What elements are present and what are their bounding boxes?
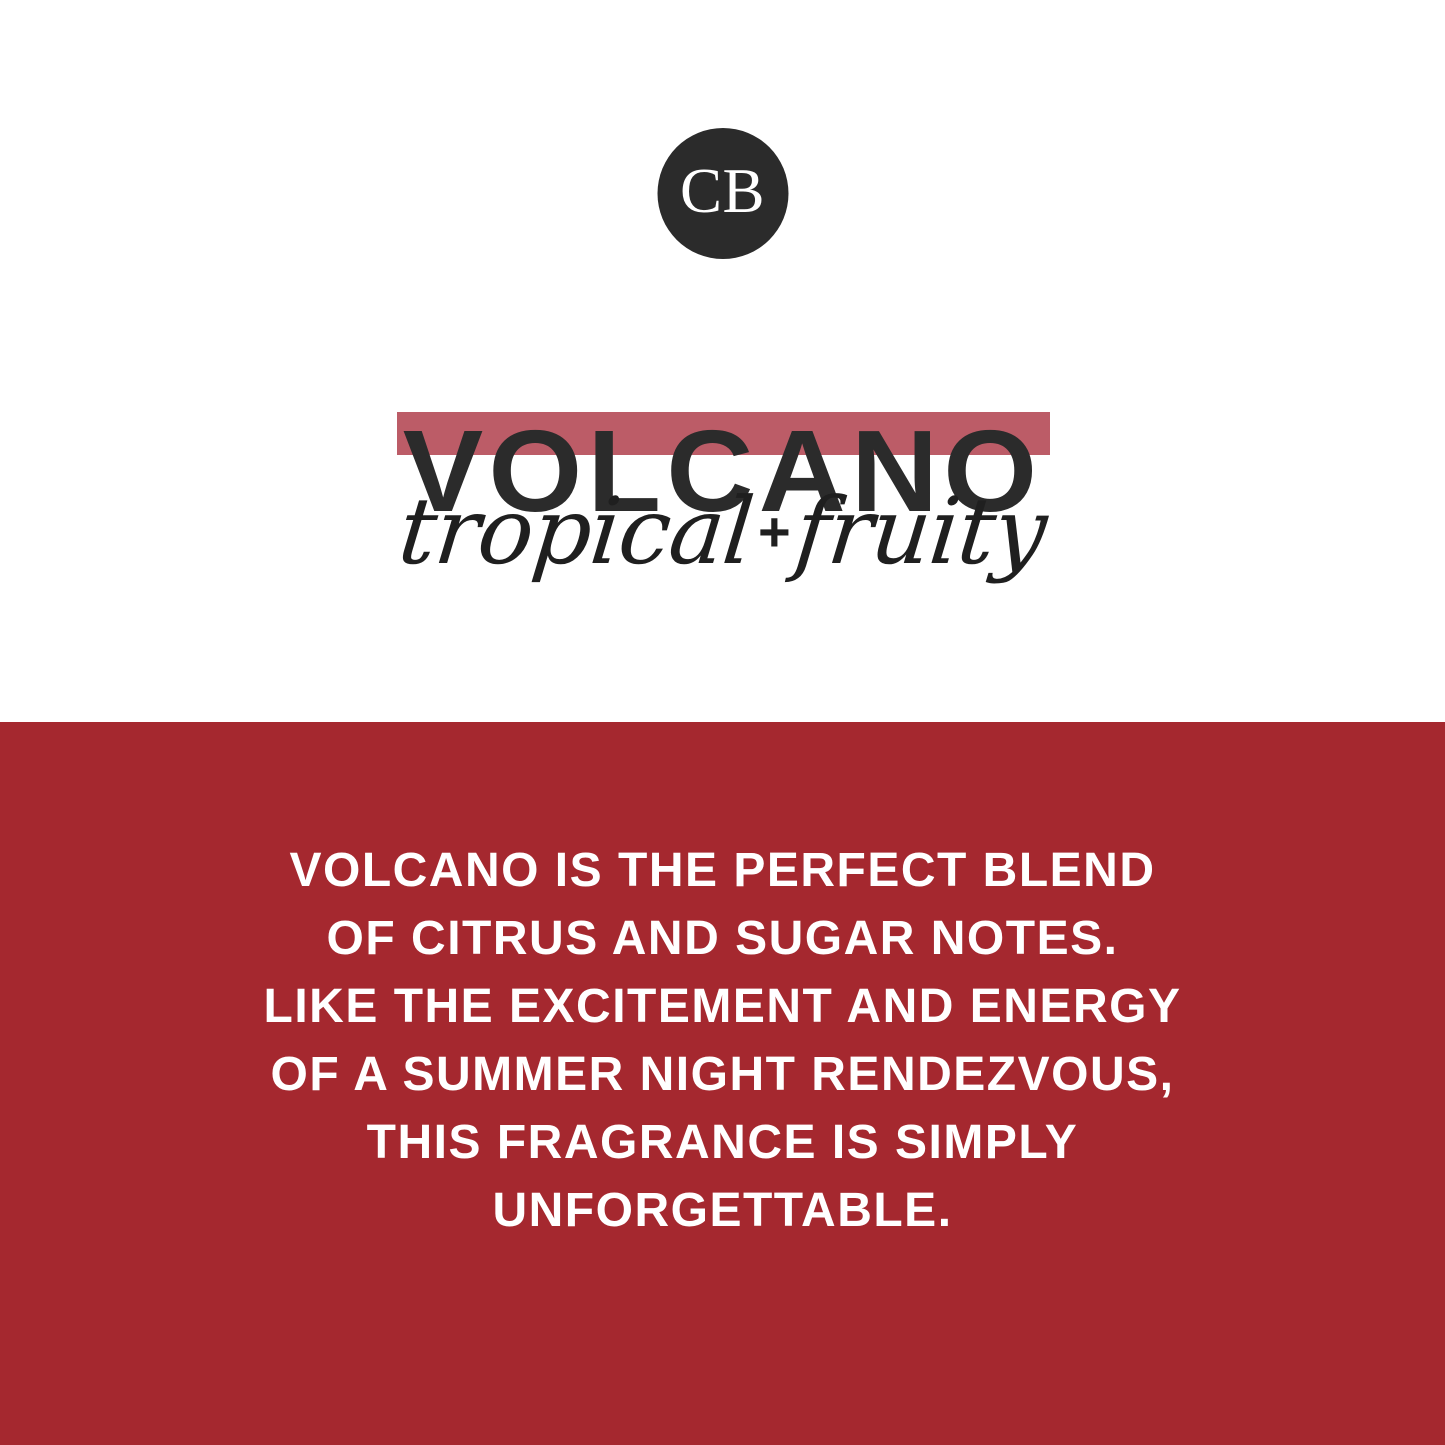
plus-icon: + (752, 494, 796, 570)
description-line: UNFORGETTABLE. (0, 1177, 1445, 1245)
tagline-word-first: tropical (394, 478, 758, 585)
cb-monogram-circle-logo: CB (657, 128, 788, 259)
description-line: LIKE THE EXCITEMENT AND ENERGY (0, 973, 1445, 1041)
description-line: OF A SUMMER NIGHT RENDEZVOUS, (0, 1041, 1445, 1109)
title-lockup: VOLCANO (0, 348, 1445, 458)
fragrance-description: VOLCANO IS THE PERFECT BLEND OF CITRUS A… (0, 837, 1445, 1245)
product-fragrance-card: CB VOLCANO tropical+fruity VOLCANO IS TH… (0, 0, 1445, 1445)
description-line: THIS FRAGRANCE IS SIMPLY (0, 1109, 1445, 1177)
description-line: VOLCANO IS THE PERFECT BLEND (0, 837, 1445, 905)
description-line: OF CITRUS AND SUGAR NOTES. (0, 905, 1445, 973)
fragrance-tagline: tropical+fruity (0, 470, 1445, 594)
top-white-panel: CB VOLCANO tropical+fruity (0, 0, 1445, 722)
bottom-red-panel: VOLCANO IS THE PERFECT BLEND OF CITRUS A… (0, 722, 1445, 1445)
tagline-word-second: fruity (790, 478, 1051, 585)
logo-monogram-text: CB (680, 160, 765, 227)
